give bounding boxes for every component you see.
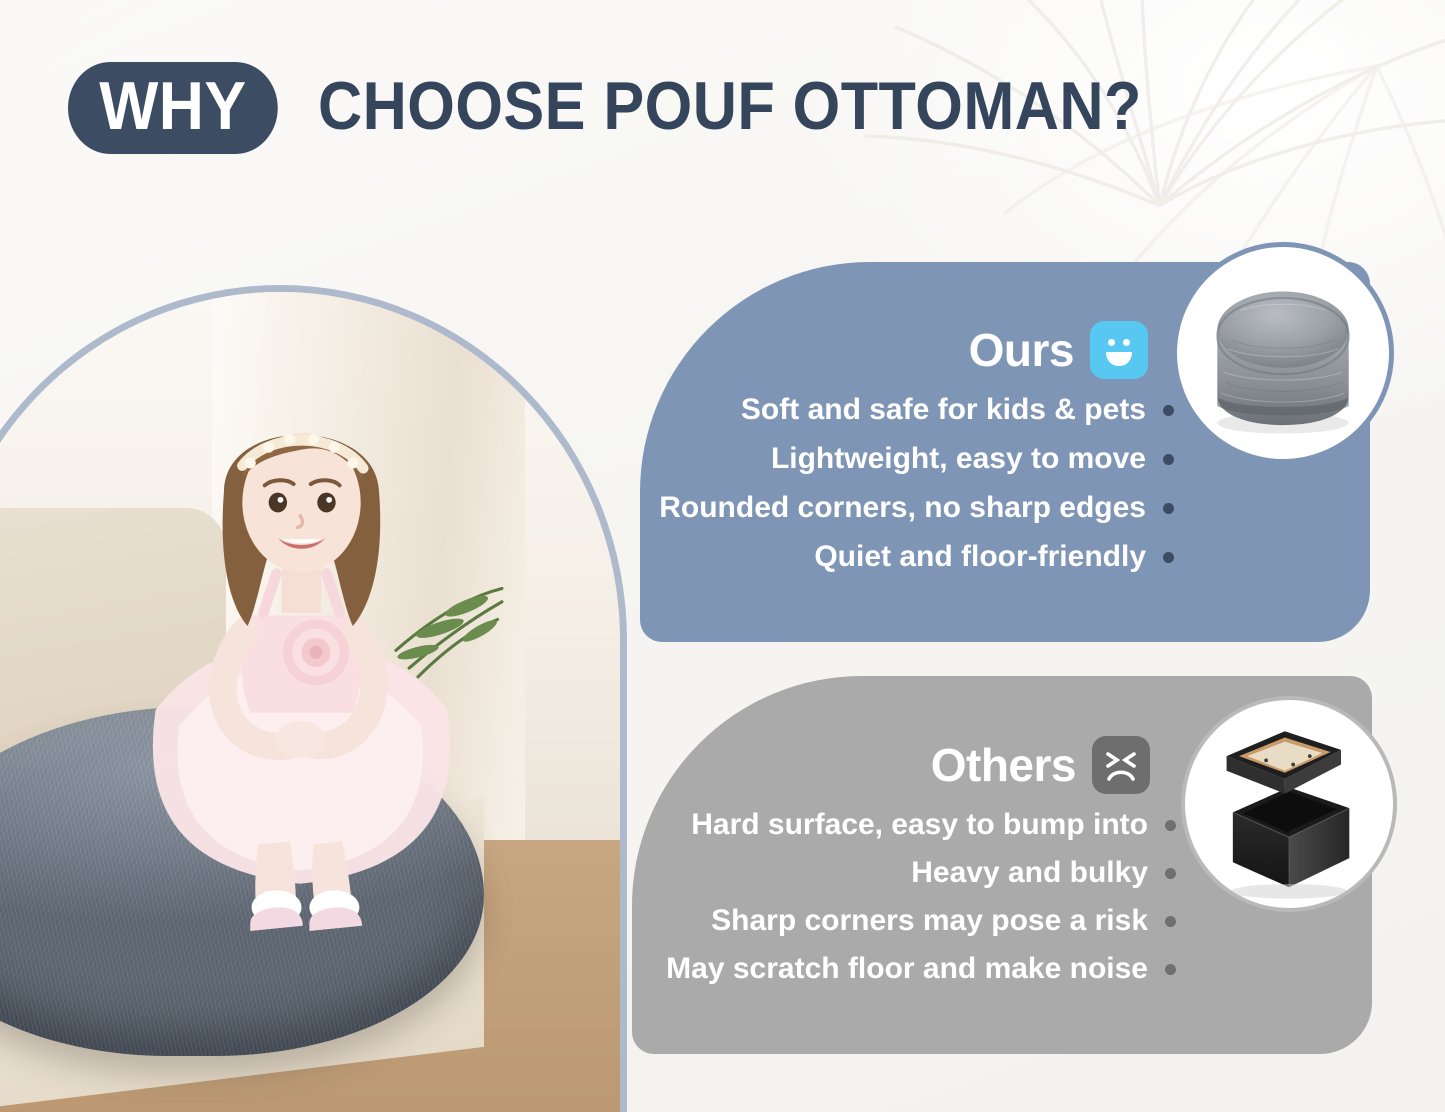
ours-item-label: Lightweight, easy to move (771, 442, 1146, 477)
bullet-dot-icon (1163, 503, 1174, 514)
smiling-face-emoji (1090, 321, 1148, 379)
room-scene (0, 292, 620, 1112)
others-title: Others (931, 742, 1076, 788)
bullet-dot-icon (1163, 405, 1174, 416)
bullet-dot-icon (1165, 964, 1176, 975)
page-title: WHY CHOOSE POUF OTTOMAN? (68, 62, 1234, 154)
list-item: Sharp corners may pose a risk (632, 904, 1372, 939)
frowning-face-with-closed-eyes-emoji (1092, 736, 1150, 794)
bullet-dot-icon (1165, 916, 1176, 927)
lifestyle-photo (0, 292, 620, 1112)
others-item-label: Heavy and bulky (911, 856, 1148, 891)
others-item-label: May scratch floor and make noise (666, 952, 1148, 987)
bullet-dot-icon (1165, 820, 1176, 831)
why-badge: WHY (68, 62, 278, 154)
ours-item-label: Quiet and floor-friendly (814, 540, 1146, 575)
photo-blob-mask (0, 292, 620, 1112)
ours-product-thumbnail (1177, 247, 1389, 459)
list-item: Quiet and floor-friendly (640, 540, 1370, 575)
ours-item-label: Soft and safe for kids & pets (741, 393, 1146, 428)
list-item: Rounded corners, no sharp edges (640, 491, 1370, 526)
list-item: May scratch floor and make noise (632, 952, 1372, 987)
others-item-label: Hard surface, easy to bump into (691, 808, 1148, 843)
ours-item-label: Rounded corners, no sharp edges (659, 491, 1146, 526)
bullet-dot-icon (1163, 552, 1174, 563)
others-product-thumbnail (1185, 700, 1393, 908)
bullet-dot-icon (1163, 454, 1174, 465)
bullet-dot-icon (1165, 868, 1176, 879)
child-figure (103, 309, 497, 1006)
others-item-label: Sharp corners may pose a risk (711, 904, 1148, 939)
ours-title: Ours (969, 327, 1074, 373)
title-text: CHOOSE POUF OTTOMAN? (318, 72, 1142, 144)
